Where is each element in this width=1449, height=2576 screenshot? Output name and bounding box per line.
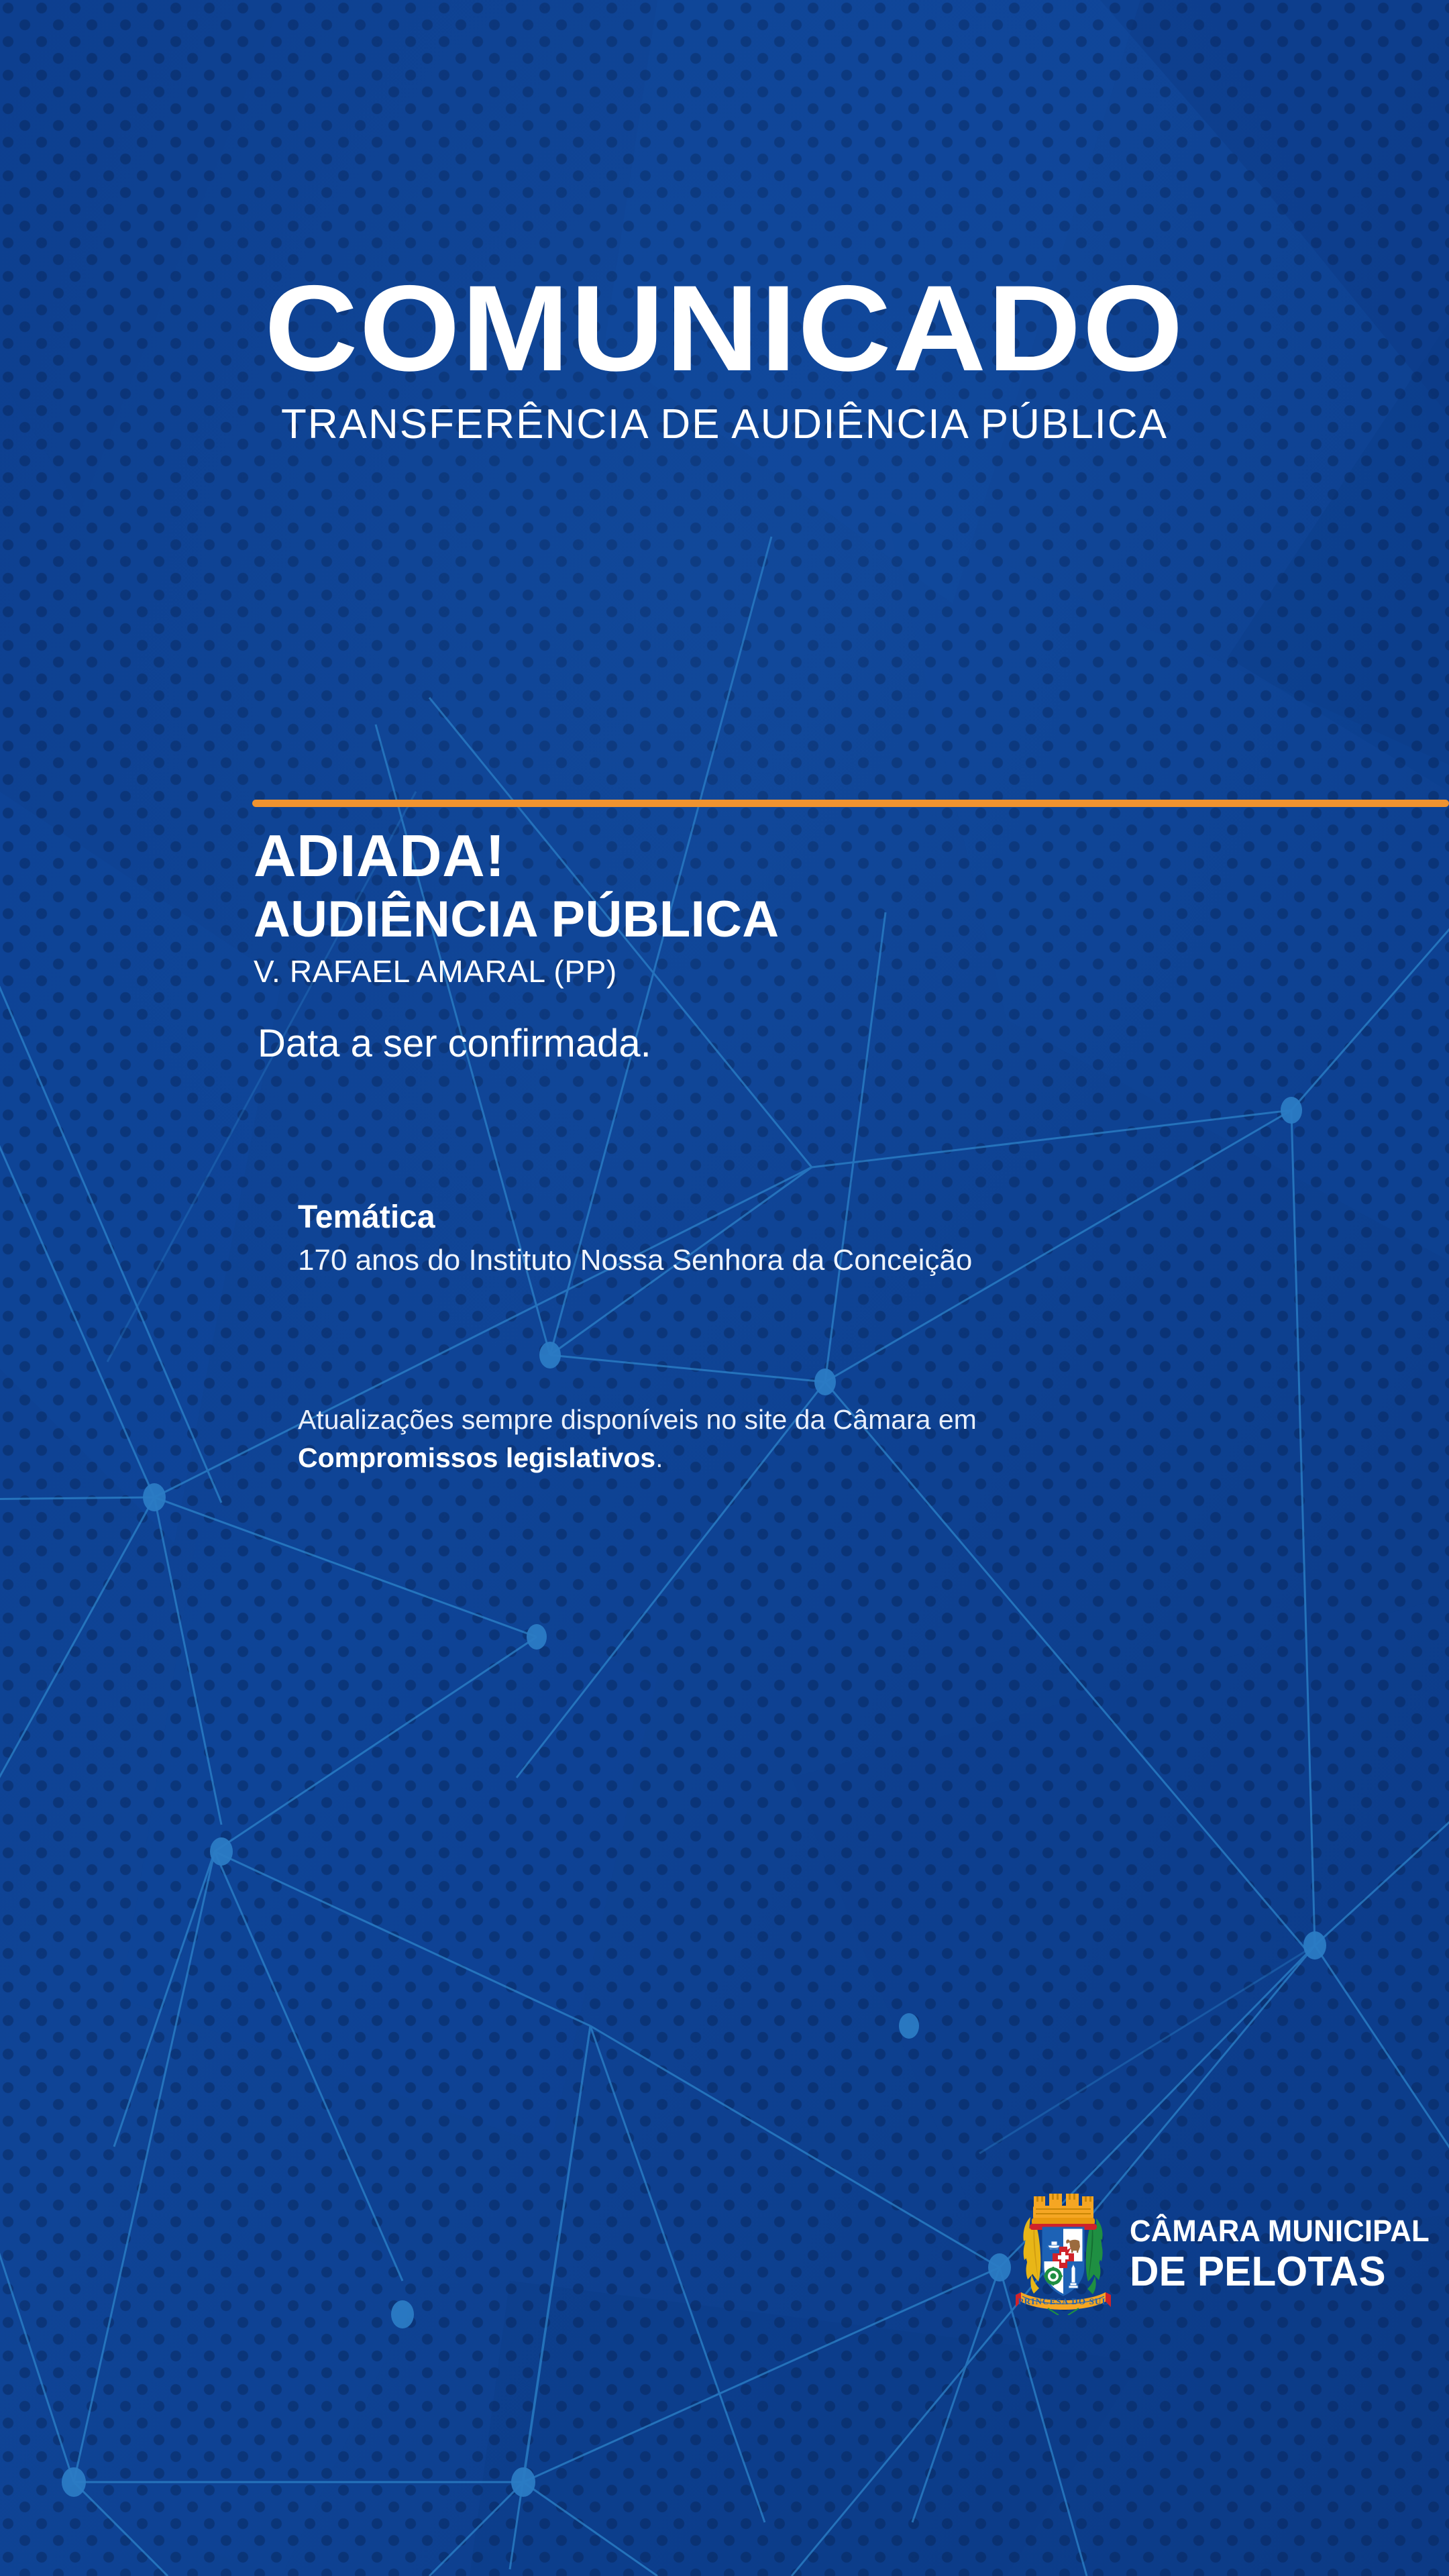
accent-divider <box>252 800 1449 807</box>
updates-note-block: Atualizações sempre disponíveis no site … <box>298 1401 1304 1477</box>
event-type-label: AUDIÊNCIA PÚBLICA <box>254 894 1287 946</box>
logo-line-1: CÂMARA MUNICIPAL <box>1130 2216 1430 2246</box>
updates-note-link-line: Compromissos legislativos. <box>298 1439 1304 1477</box>
note-period: . <box>655 1442 663 1473</box>
camara-logo: PRINCESA DO SUL CÂMARA MUNICIPAL DE PELO… <box>1014 2184 1390 2318</box>
poster-header: COMUNICADO TRANSFERÊNCIA DE AUDIÊNCIA PÚ… <box>0 267 1449 445</box>
thematic-label: Temática <box>298 1201 1344 1234</box>
compromissos-legislativos-link[interactable]: Compromissos legislativos <box>298 1442 655 1473</box>
poster-canvas: COMUNICADO TRANSFERÊNCIA DE AUDIÊNCIA PÚ… <box>0 0 1449 2576</box>
event-date-text: Data a ser confirmada. <box>258 1022 1287 1065</box>
thematic-text: 170 anos do Instituto Nossa Senhora da C… <box>298 1244 1344 1278</box>
svg-text:PRINCESA DO SUL: PRINCESA DO SUL <box>1018 2296 1108 2306</box>
logo-wordmark: CÂMARA MUNICIPAL DE PELOTAS <box>1130 2210 1439 2293</box>
announcement-block: ADIADA! AUDIÊNCIA PÚBLICA V. RAFAEL AMAR… <box>254 826 1287 1065</box>
requester-label: V. RAFAEL AMARAL (PP) <box>254 955 1287 987</box>
page-title: COMUNICADO <box>0 267 1449 389</box>
page-subtitle: TRANSFERÊNCIA DE AUDIÊNCIA PÚBLICA <box>0 404 1449 445</box>
updates-note-line: Atualizações sempre disponíveis no site … <box>298 1401 1304 1439</box>
thematic-block: Temática 170 anos do Instituto Nossa Sen… <box>298 1201 1344 1278</box>
logo-line-2: DE PELOTAS <box>1130 2251 1430 2293</box>
status-badge: ADIADA! <box>254 826 1287 885</box>
brasao-pelotas-icon: PRINCESA DO SUL <box>1014 2188 1112 2315</box>
